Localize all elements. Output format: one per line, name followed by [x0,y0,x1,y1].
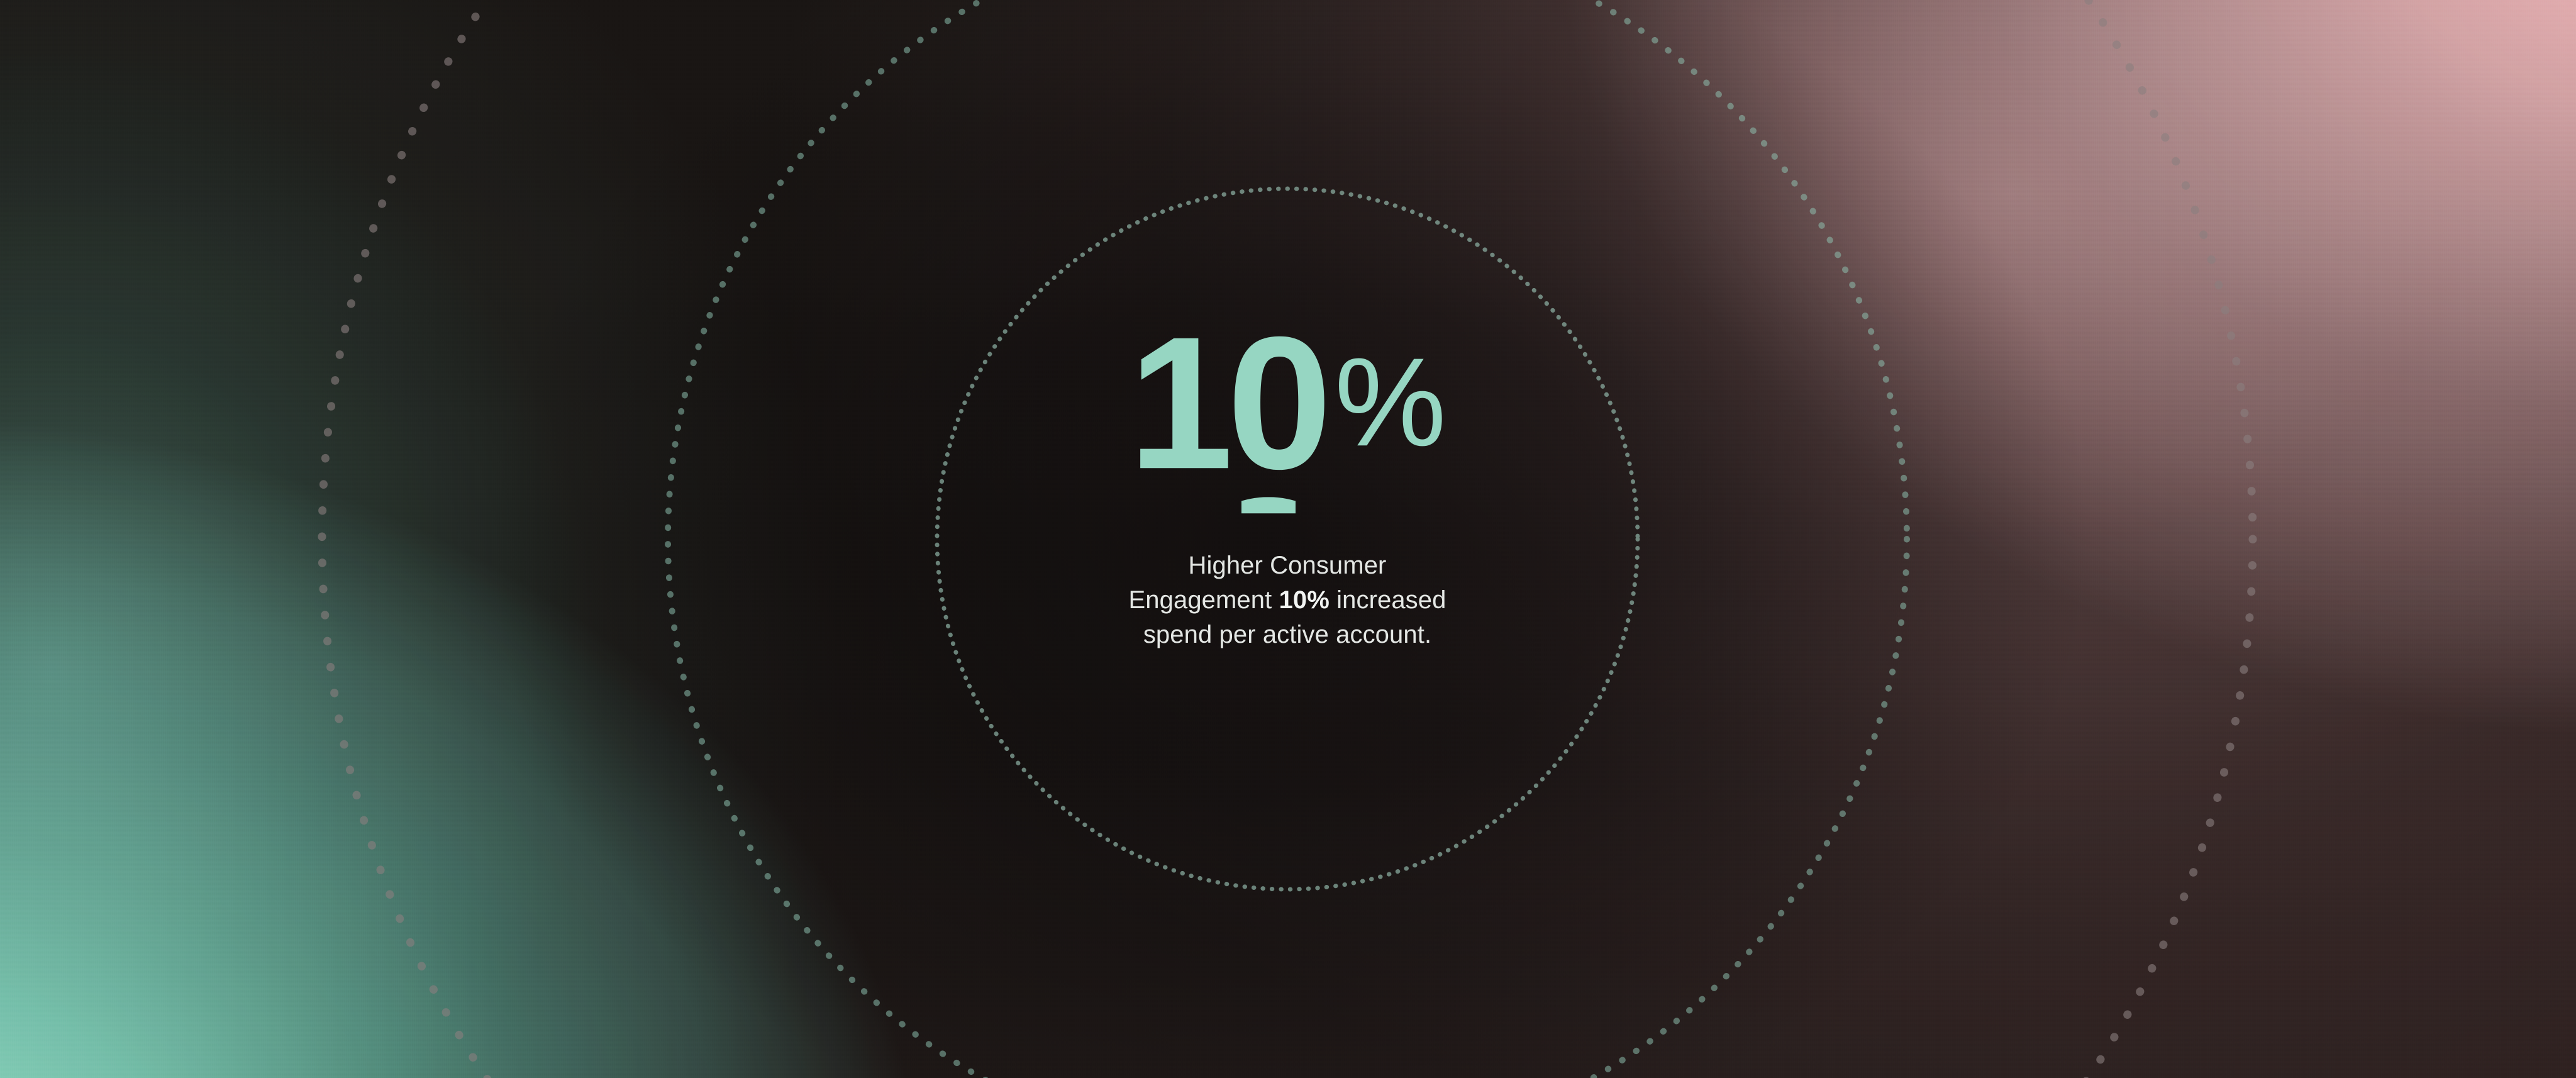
stat-value: 10 [1128,320,1326,486]
accent-arc-icon [1241,497,1296,513]
caption-line-2-prefix: Engagement [1129,586,1279,614]
stat-percent-symbol: % [1335,320,1446,486]
caption-line-3: spend per active account. [1143,621,1431,649]
caption-emphasis: 10% [1279,586,1330,614]
caption-line-1: Higher Consumer [1189,552,1387,579]
stat-figure: 10 % [1128,320,1446,486]
hero-banner: 10 % Higher Consumer Engagement 10% incr… [0,0,2576,1078]
banner-content: 10 % Higher Consumer Engagement 10% incr… [0,0,2576,1078]
stat-caption: Higher Consumer Engagement 10% increased… [1129,548,1446,653]
caption-line-2-suffix: increased [1330,586,1446,614]
stat-block: 10 % Higher Consumer Engagement 10% incr… [941,425,1633,653]
